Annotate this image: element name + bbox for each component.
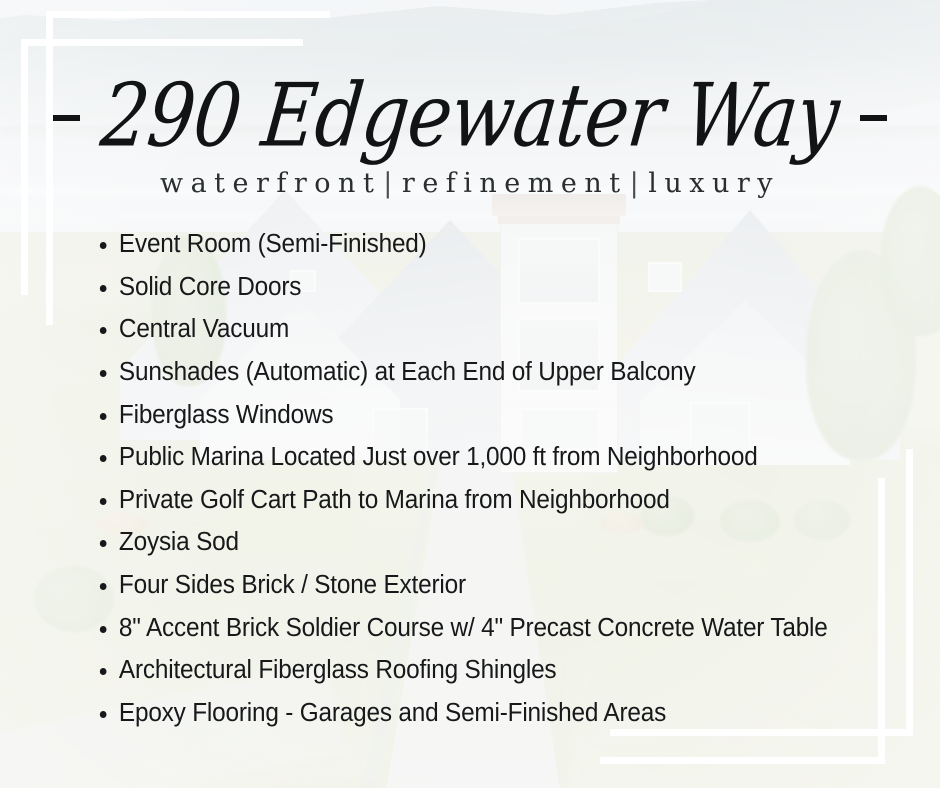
- feature-item: Central Vacuum: [96, 313, 879, 346]
- feature-item: Epoxy Flooring - Garages and Semi-Finish…: [96, 697, 879, 730]
- subtitle-separator-1: |: [381, 168, 402, 199]
- feature-item: Zoysia Sod: [96, 526, 879, 559]
- subtitle-item-luxury: luxury: [648, 168, 780, 199]
- subtitle-item-waterfront: waterfront: [160, 168, 381, 199]
- subtitle-item-refinement: refinement: [402, 168, 628, 199]
- subtitle-separator-2: |: [628, 168, 649, 199]
- feature-item: Solid Core Doors: [96, 271, 879, 304]
- headline-block: 290 Edgewater Way: [0, 82, 940, 150]
- headline-dash-right: [860, 115, 887, 121]
- feature-item: 8" Accent Brick Soldier Course w/ 4" Pre…: [96, 612, 879, 645]
- feature-item: Architectural Fiberglass Roofing Shingle…: [96, 654, 879, 687]
- feature-item: Sunshades (Automatic) at Each End of Upp…: [96, 356, 879, 389]
- page-title: 290 Edgewater Way: [94, 76, 846, 156]
- feature-list: Event Room (Semi-Finished)Solid Core Doo…: [96, 228, 916, 740]
- subtitle: waterfront|refinement|luxury: [0, 168, 940, 199]
- frame-top-left-outer-horizontal: [46, 11, 330, 18]
- frame-top-left-inner-vertical: [21, 39, 28, 295]
- frame-bottom-right-inner-horizontal: [600, 757, 885, 764]
- feature-item: Event Room (Semi-Finished): [96, 228, 879, 261]
- headline-dash-left: [53, 115, 80, 121]
- frame-top-left-inner-horizontal: [21, 39, 303, 46]
- feature-item: Private Golf Cart Path to Marina from Ne…: [96, 484, 879, 517]
- feature-item: Fiberglass Windows: [96, 399, 879, 432]
- feature-item: Four Sides Brick / Stone Exterior: [96, 569, 879, 602]
- real-estate-flyer: 290 Edgewater Way waterfront|refinement|…: [0, 0, 940, 788]
- feature-item: Public Marina Located Just over 1,000 ft…: [96, 441, 879, 474]
